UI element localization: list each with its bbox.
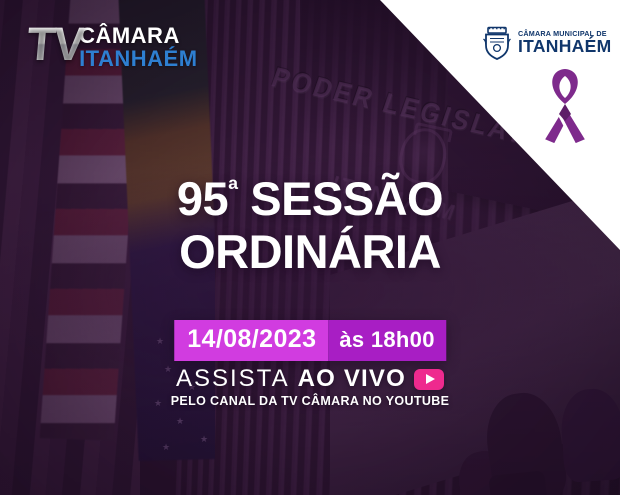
tv-camara-logo: TV CÂMARA ITANHAÉM <box>27 22 198 70</box>
camara-municipal-wordmark: CÂMARA MUNICIPAL DE ITANHAÉM <box>518 30 611 56</box>
session-number: 95 <box>177 172 228 225</box>
camara-municipal-logo: CÂMARA MUNICIPAL DE ITANHAÉM <box>482 26 611 60</box>
camara-municipal-line2: ITANHAÉM <box>518 38 611 56</box>
tv-logo-word-itanhaem: ITANHAÉM <box>79 48 197 70</box>
youtube-play-icon[interactable] <box>414 369 444 390</box>
session-time: às 18h00 <box>328 320 445 361</box>
tv-logo-wordmark: CÂMARA ITANHAÉM <box>79 25 197 70</box>
headline-line-1: 95ª SESSÃO <box>0 172 620 225</box>
schedule-badge: 14/08/2023 às 18h00 <box>174 320 446 361</box>
session-announcement-card: PODER LEGISLATIVO ITANHAÉM ★ ★ ★ ★ ★ ★ ★ <box>0 0 620 495</box>
watch-live-emphasis: AO VIVO <box>298 365 406 393</box>
page-title: 95ª SESSÃO ORDINÁRIA <box>0 172 620 278</box>
watch-live-prefix: ASSISTA <box>176 365 290 393</box>
tv-logo-word-camara: CÂMARA <box>79 25 197 47</box>
watch-live-subline: PELO CANAL DA TV CÂMARA NO YOUTUBE <box>0 394 620 408</box>
tv-logo-mark: TV <box>25 22 85 66</box>
coat-of-arms-icon <box>482 26 512 60</box>
awareness-ribbon-icon <box>533 64 597 146</box>
play-triangle-icon <box>426 374 435 384</box>
headline-line-2: ORDINÁRIA <box>0 225 620 278</box>
watch-live-row[interactable]: ASSISTA AO VIVO <box>0 365 620 393</box>
session-ordinal-suffix: ª <box>228 174 238 204</box>
session-word: SESSÃO <box>238 172 443 225</box>
session-date: 14/08/2023 <box>174 320 328 361</box>
